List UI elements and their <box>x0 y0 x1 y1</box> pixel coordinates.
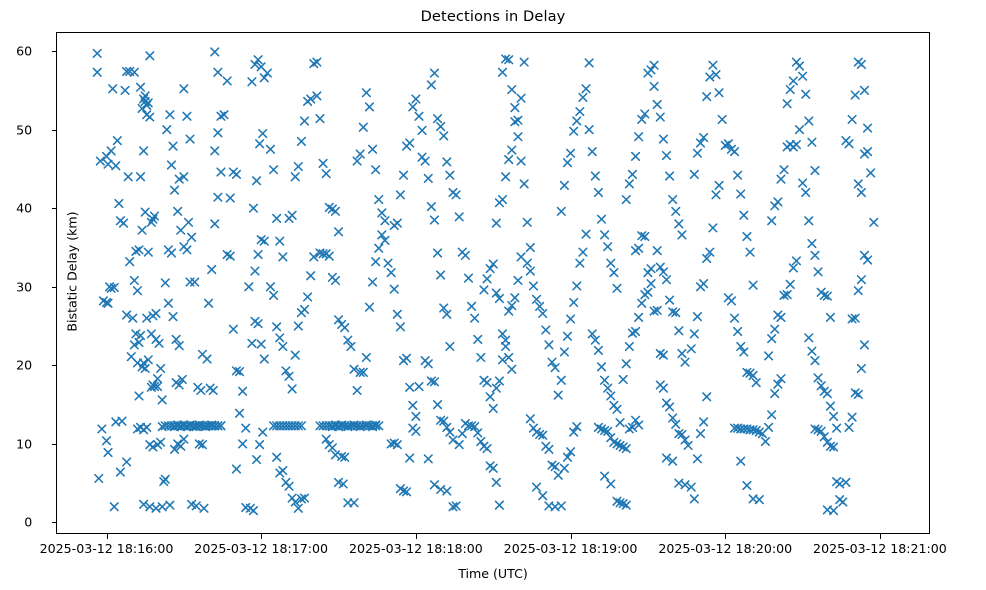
scatter-marker <box>790 264 798 272</box>
x-tick-mark <box>880 533 881 539</box>
scatter-marker <box>158 396 166 404</box>
scatter-marker <box>669 196 677 204</box>
scatter-marker <box>403 354 411 362</box>
scatter-marker <box>514 133 522 141</box>
scatter-marker <box>120 219 128 227</box>
scatter-marker <box>737 457 745 465</box>
x-tick-label: 2025-03-12 18:18:00 <box>349 541 483 556</box>
scatter-marker <box>384 259 392 267</box>
scatter-marker <box>256 441 264 449</box>
scatter-marker <box>409 103 417 111</box>
scatter-marker <box>709 61 717 69</box>
scatter-marker <box>93 50 101 58</box>
scatter-marker <box>554 391 562 399</box>
scatter-marker <box>517 94 525 102</box>
scatter-marker <box>288 385 296 393</box>
scatter-marker <box>295 322 303 330</box>
scatter-marker <box>505 156 513 164</box>
scatter-marker <box>375 196 383 204</box>
scatter-marker <box>527 244 535 252</box>
scatter-marker <box>143 424 151 432</box>
scatter-marker <box>273 453 281 461</box>
scatter-marker <box>353 157 361 165</box>
scatter-points-layer <box>57 33 929 533</box>
scatter-marker <box>545 341 553 349</box>
scatter-marker <box>799 72 807 80</box>
scatter-marker <box>712 191 720 199</box>
scatter-marker <box>250 204 258 212</box>
scatter-marker <box>570 127 578 135</box>
scatter-marker <box>443 487 451 495</box>
scatter-marker <box>372 166 380 174</box>
scatter-marker <box>520 58 528 66</box>
scatter-marker <box>397 191 405 199</box>
scatter-marker <box>660 351 668 359</box>
scatter-marker <box>508 365 516 373</box>
scatter-marker <box>734 328 742 336</box>
scatter-marker <box>446 171 454 179</box>
x-tick-mark <box>261 533 262 539</box>
scatter-marker <box>601 376 609 384</box>
scatter-marker <box>489 405 497 413</box>
scatter-marker <box>146 113 154 121</box>
scatter-marker <box>372 258 380 266</box>
scatter-marker <box>595 189 603 197</box>
scatter-marker <box>209 387 217 395</box>
scatter-marker <box>112 162 120 170</box>
scatter-marker <box>217 168 225 176</box>
scatter-marker <box>796 62 804 70</box>
scatter-marker <box>743 482 751 490</box>
scatter-marker <box>864 148 872 156</box>
scatter-marker <box>511 104 519 112</box>
scatter-marker <box>152 504 160 512</box>
scatter-marker <box>598 215 606 223</box>
scatter-marker <box>440 132 448 140</box>
scatter-marker <box>502 173 510 181</box>
scatter-marker <box>573 282 581 290</box>
scatter-marker <box>211 147 219 155</box>
scatter-marker <box>638 299 646 307</box>
scatter-marker <box>428 203 436 211</box>
scatter-marker <box>95 475 103 483</box>
x-tick-label: 2025-03-12 18:20:00 <box>658 541 792 556</box>
scatter-marker <box>632 328 640 336</box>
scatter-marker <box>777 175 785 183</box>
scatter-marker <box>397 323 405 331</box>
scatter-marker <box>313 58 321 66</box>
scatter-marker <box>474 336 482 344</box>
scatter-marker <box>827 402 835 410</box>
scatter-marker <box>731 314 739 322</box>
scatter-marker <box>409 402 417 410</box>
scatter-marker <box>431 69 439 77</box>
scatter-marker <box>697 430 705 438</box>
scatter-marker <box>635 133 643 141</box>
scatter-marker <box>477 354 485 362</box>
scatter-marker <box>585 59 593 67</box>
scatter-marker <box>301 306 309 314</box>
scatter-marker <box>390 285 398 293</box>
page-title: Detections in Delay <box>0 8 986 25</box>
scatter-marker <box>412 413 420 421</box>
x-tick-label: 2025-03-12 18:21:00 <box>813 541 947 556</box>
scatter-marker <box>166 501 174 509</box>
scatter-marker <box>768 217 776 225</box>
scatter-marker <box>867 169 875 177</box>
scatter-marker <box>607 480 615 488</box>
scatter-marker <box>592 172 600 180</box>
scatter-marker <box>230 325 238 333</box>
scatter-marker <box>468 303 476 311</box>
scatter-marker <box>802 189 810 197</box>
scatter-marker <box>443 158 451 166</box>
scatter-marker <box>805 334 813 342</box>
scatter-marker <box>322 170 330 178</box>
scatter-marker <box>808 347 816 355</box>
scatter-marker <box>765 352 773 360</box>
scatter-marker <box>508 146 516 154</box>
scatter-marker <box>626 180 634 188</box>
scatter-marker <box>421 157 429 165</box>
scatter-marker <box>428 81 436 89</box>
scatter-marker <box>254 320 262 328</box>
scatter-marker <box>250 507 258 515</box>
scatter-marker <box>793 141 801 149</box>
scatter-marker <box>595 347 603 355</box>
scatter-marker <box>114 137 122 145</box>
scatter-svg <box>57 33 929 533</box>
scatter-marker <box>121 87 129 95</box>
scatter-marker <box>169 313 177 321</box>
scatter-marker <box>253 456 261 464</box>
y-tick-label: 0 <box>24 515 35 530</box>
scatter-marker <box>703 393 711 401</box>
scatter-marker <box>279 343 287 351</box>
scatter-marker <box>622 501 630 509</box>
scatter-marker <box>678 231 686 239</box>
scatter-marker <box>137 173 145 181</box>
scatter-marker <box>561 182 569 190</box>
scatter-marker <box>304 293 312 301</box>
scatter-marker <box>155 340 163 348</box>
scatter-marker <box>424 175 432 183</box>
scatter-marker <box>579 248 587 256</box>
scatter-marker <box>359 123 367 131</box>
scatter-marker <box>431 481 439 489</box>
scatter-marker <box>177 226 185 234</box>
scatter-marker <box>601 472 609 480</box>
scatter-marker <box>551 463 559 471</box>
scatter-marker <box>663 152 671 160</box>
scatter-marker <box>613 285 621 293</box>
scatter-marker <box>755 496 763 504</box>
scatter-marker <box>527 267 535 275</box>
scatter-marker <box>561 464 569 472</box>
scatter-marker <box>666 296 674 304</box>
scatter-marker <box>836 496 844 504</box>
scatter-marker <box>154 375 162 383</box>
scatter-marker <box>712 71 720 79</box>
scatter-marker <box>257 340 265 348</box>
scatter-marker <box>505 354 513 362</box>
y-tick-mark <box>52 287 58 288</box>
scatter-marker <box>233 465 241 473</box>
scatter-marker <box>140 147 148 155</box>
y-tick-label: 60 <box>16 44 35 59</box>
scatter-marker <box>381 217 389 225</box>
scatter-marker <box>276 237 284 245</box>
scatter-marker <box>226 194 234 202</box>
scatter-marker <box>493 219 501 227</box>
matplotlib-figure: Detections in Delay 0102030405060 2025-0… <box>0 0 986 590</box>
scatter-marker <box>728 297 736 305</box>
scatter-marker <box>527 415 535 423</box>
scatter-marker <box>146 52 154 60</box>
scatter-marker <box>205 299 213 307</box>
scatter-marker <box>226 252 234 260</box>
scatter-marker <box>796 126 804 134</box>
scatter-marker <box>573 117 581 125</box>
scatter-marker <box>197 387 205 395</box>
scatter-marker <box>400 171 408 179</box>
scatter-marker <box>134 287 142 295</box>
scatter-marker <box>169 142 177 150</box>
scatter-marker <box>768 335 776 343</box>
scatter-marker <box>98 425 106 433</box>
scatter-marker <box>768 411 776 419</box>
scatter-marker <box>191 278 199 286</box>
scatter-marker <box>267 145 275 153</box>
scatter-marker <box>168 249 176 257</box>
scatter-marker <box>647 280 655 288</box>
scatter-marker <box>765 424 773 432</box>
scatter-marker <box>740 211 748 219</box>
scatter-marker <box>279 253 287 261</box>
scatter-marker <box>270 292 278 300</box>
scatter-marker <box>295 163 303 171</box>
scatter-marker <box>415 112 423 120</box>
scatter-marker <box>434 401 442 409</box>
scatter-marker <box>124 173 132 181</box>
scatter-marker <box>523 219 531 227</box>
scatter-marker <box>270 166 278 174</box>
scatter-marker <box>762 438 770 446</box>
scatter-marker <box>406 139 414 147</box>
scatter-marker <box>715 89 723 97</box>
scatter-marker <box>455 441 463 449</box>
scatter-marker <box>746 248 754 256</box>
scatter-marker <box>446 343 454 351</box>
scatter-marker <box>780 166 788 174</box>
scatter-marker <box>598 363 606 371</box>
scatter-marker <box>259 428 267 436</box>
scatter-marker <box>245 283 253 291</box>
scatter-marker <box>288 211 296 219</box>
y-tick-label: 30 <box>16 279 35 294</box>
scatter-marker <box>220 111 228 119</box>
scatter-marker <box>378 209 386 217</box>
scatter-marker <box>483 275 491 283</box>
scatter-marker <box>845 424 853 432</box>
scatter-marker <box>109 85 117 93</box>
scatter-marker <box>493 384 501 392</box>
scatter-marker <box>452 191 460 199</box>
scatter-marker <box>259 130 267 138</box>
scatter-marker <box>672 208 680 216</box>
y-tick-label: 40 <box>16 201 35 216</box>
scatter-marker <box>110 503 118 511</box>
scatter-marker <box>660 384 668 392</box>
scatter-marker <box>653 247 661 255</box>
scatter-marker <box>557 208 565 216</box>
x-axis-label: Time (UTC) <box>56 566 930 581</box>
scatter-marker <box>256 140 264 148</box>
scatter-marker <box>335 228 343 236</box>
scatter-marker <box>582 230 590 238</box>
scatter-marker <box>805 117 813 125</box>
scatter-marker <box>285 482 293 490</box>
scatter-marker <box>508 86 516 94</box>
scatter-marker <box>248 340 256 348</box>
scatter-marker <box>774 198 782 206</box>
scatter-marker <box>126 258 134 266</box>
scatter-marker <box>793 257 801 265</box>
scatter-marker <box>870 219 878 227</box>
scatter-marker <box>675 327 683 335</box>
scatter-marker <box>731 148 739 156</box>
scatter-marker <box>666 172 674 180</box>
scatter-marker <box>523 259 531 267</box>
scatter-marker <box>211 220 219 228</box>
scatter-marker <box>833 424 841 432</box>
scatter-marker <box>143 314 151 322</box>
scatter-marker <box>489 464 497 472</box>
scatter-marker <box>824 390 832 398</box>
scatter-marker <box>691 171 699 179</box>
scatter-marker <box>431 216 439 224</box>
y-tick-mark <box>52 365 58 366</box>
scatter-marker <box>855 287 863 295</box>
scatter-marker <box>458 430 466 438</box>
scatter-marker <box>783 100 791 108</box>
scatter-marker <box>619 376 627 384</box>
scatter-marker <box>273 323 281 331</box>
scatter-marker <box>694 455 702 463</box>
scatter-marker <box>564 159 572 167</box>
scatter-marker <box>675 220 683 228</box>
scatter-marker <box>152 310 160 318</box>
scatter-marker <box>858 276 866 284</box>
scatter-marker <box>103 437 111 445</box>
scatter-marker <box>165 299 173 307</box>
x-tick-label: 2025-03-12 18:16:00 <box>40 541 174 556</box>
y-tick-label: 50 <box>16 122 35 137</box>
scatter-marker <box>626 343 634 351</box>
scatter-marker <box>273 215 281 223</box>
scatter-marker <box>483 445 491 453</box>
y-tick-mark <box>52 51 58 52</box>
scatter-marker <box>291 173 299 181</box>
scatter-marker <box>851 91 859 99</box>
scatter-marker <box>808 240 816 248</box>
scatter-marker <box>239 387 247 395</box>
scatter-marker <box>786 281 794 289</box>
scatter-marker <box>582 85 590 93</box>
scatter-marker <box>118 417 126 425</box>
scatter-marker <box>517 157 525 165</box>
y-axis-label: Bistatic Delay (km) <box>65 21 80 523</box>
scatter-marker <box>530 282 538 290</box>
scatter-marker <box>394 219 402 227</box>
scatter-marker <box>117 468 125 476</box>
scatter-marker <box>188 233 196 241</box>
scatter-marker <box>163 126 171 134</box>
scatter-marker <box>845 140 853 148</box>
scatter-marker <box>409 424 417 432</box>
scatter-marker <box>267 283 275 291</box>
scatter-marker <box>366 103 374 111</box>
scatter-marker <box>848 116 856 124</box>
scatter-marker <box>644 288 652 296</box>
scatter-marker <box>424 360 432 368</box>
x-tick-mark <box>571 533 572 539</box>
scatter-marker <box>131 277 139 285</box>
scatter-marker <box>799 179 807 187</box>
scatter-marker <box>861 87 869 95</box>
scatter-marker <box>141 365 149 373</box>
scatter-marker <box>366 303 374 311</box>
scatter-marker <box>864 124 872 132</box>
scatter-marker <box>567 149 575 157</box>
scatter-marker <box>455 213 463 221</box>
scatter-marker <box>486 393 494 401</box>
scatter-marker <box>629 171 637 179</box>
scatter-marker <box>434 115 442 123</box>
scatter-marker <box>616 419 624 427</box>
scatter-marker <box>610 269 618 277</box>
scatter-marker <box>319 160 327 168</box>
scatter-marker <box>613 406 621 414</box>
scatter-marker <box>161 279 169 287</box>
scatter-marker <box>827 314 835 322</box>
scatter-marker <box>533 483 541 491</box>
scatter-marker <box>743 233 751 241</box>
scatter-marker <box>104 160 112 168</box>
scatter-marker <box>771 325 779 333</box>
scatter-marker <box>424 455 432 463</box>
scatter-marker <box>412 95 420 103</box>
scatter-marker <box>647 265 655 273</box>
scatter-marker <box>588 148 596 156</box>
scatter-marker <box>496 501 504 509</box>
scatter-marker <box>200 504 208 512</box>
scatter-marker <box>635 314 643 322</box>
scatter-marker <box>214 129 222 137</box>
scatter-marker <box>301 117 309 125</box>
scatter-marker <box>437 271 445 279</box>
scatter-marker <box>842 479 850 487</box>
scatter-marker <box>211 48 219 56</box>
scatter-marker <box>166 111 174 119</box>
scatter-marker <box>168 161 176 169</box>
scatter-marker <box>138 226 146 234</box>
y-tick-mark <box>52 522 58 523</box>
scatter-marker <box>291 351 299 359</box>
scatter-marker <box>483 379 491 387</box>
scatter-marker <box>604 243 612 251</box>
scatter-marker <box>691 495 699 503</box>
